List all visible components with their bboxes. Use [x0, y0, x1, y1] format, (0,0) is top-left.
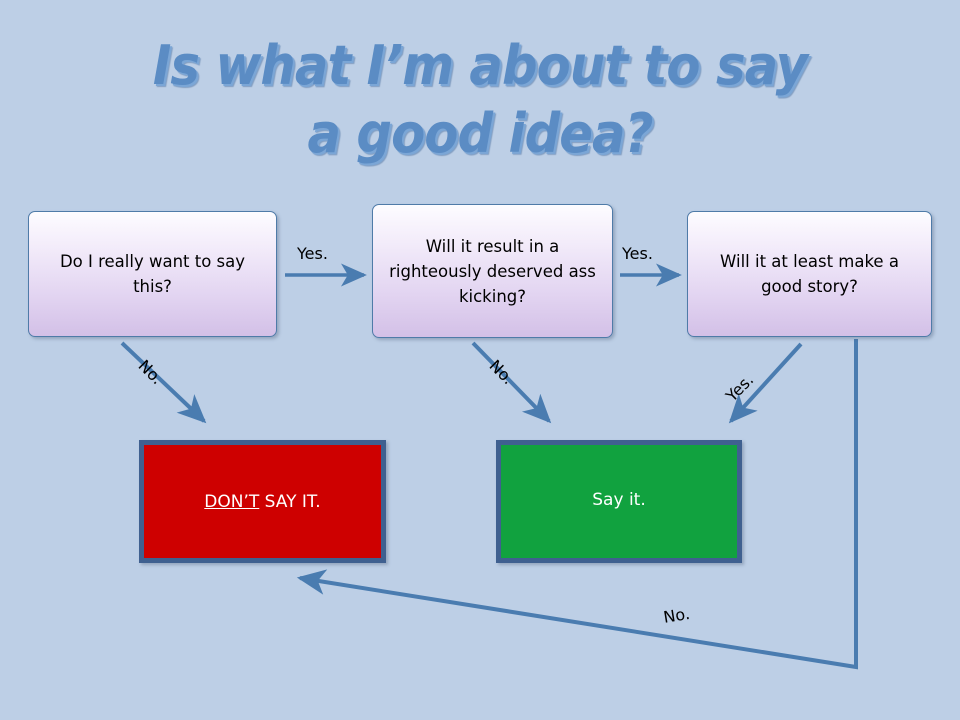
edge-label-q3-to-dont: No. — [662, 604, 691, 627]
node-dont-say-it[interactable]: DON’T SAY IT. — [139, 440, 386, 563]
node-dont-say-it-label: DON’T SAY IT. — [204, 492, 320, 512]
page-title: Is what I’m about to say a good idea? — [38, 32, 921, 168]
node-say-it[interactable]: Say it. — [496, 440, 742, 563]
node-dont-say-it-rest: SAY IT. — [259, 492, 320, 512]
node-question-1[interactable]: Do I really want to say this? — [28, 211, 277, 337]
edge-q1-to-dont — [122, 343, 204, 421]
edge-label-q2-to-dont: No. — [486, 356, 518, 388]
node-question-1-label: Do I really want to say this? — [41, 249, 264, 299]
flowchart-slide: Is what I’m about to say a good idea? Do… — [0, 0, 960, 720]
edge-label-q3-to-say: Yes. — [722, 370, 757, 405]
edge-q2-to-dont — [473, 343, 549, 421]
edge-label-q2-to-q3: Yes. — [622, 244, 653, 263]
node-say-it-label: Say it. — [592, 490, 645, 510]
node-dont-say-it-emphasis: DON’T — [204, 492, 259, 512]
node-question-2[interactable]: Will it result in a righteously deserved… — [372, 204, 613, 338]
edge-label-q1-to-q2: Yes. — [297, 244, 328, 263]
edge-label-q1-to-dont: No. — [135, 356, 167, 388]
node-question-3[interactable]: Will it at least make a good story? — [687, 211, 932, 337]
node-question-3-label: Will it at least make a good story? — [700, 249, 919, 299]
node-question-2-label: Will it result in a righteously deserved… — [385, 234, 600, 309]
